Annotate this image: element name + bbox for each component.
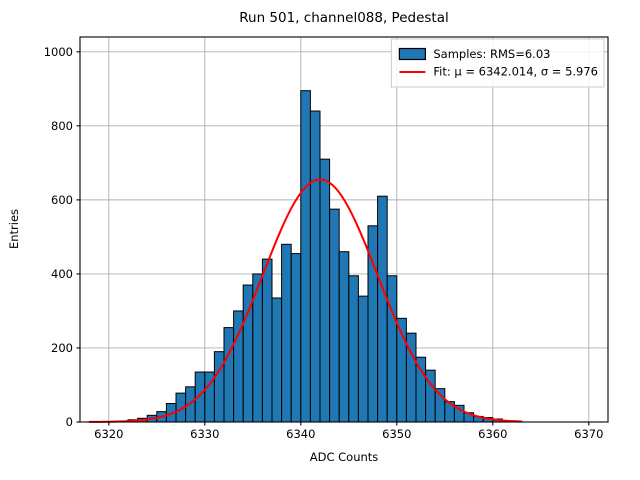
histogram-bar xyxy=(301,91,311,422)
y-tick-label: 0 xyxy=(66,415,73,429)
x-tick-label: 6360 xyxy=(478,427,507,441)
y-tick-label: 400 xyxy=(51,267,73,281)
legend[interactable]: Samples: RMS=6.03 Fit: μ = 6342.014, σ =… xyxy=(391,39,604,87)
y-tick-label: 200 xyxy=(51,341,73,355)
histogram-bar xyxy=(282,244,292,422)
x-tick-label: 6350 xyxy=(382,427,411,441)
y-tick-label: 1000 xyxy=(44,45,73,59)
x-axis-label: ADC Counts xyxy=(310,450,379,464)
x-tick-label: 6340 xyxy=(286,427,315,441)
y-tick-label: 800 xyxy=(51,119,73,133)
histogram-bar xyxy=(416,357,426,422)
histogram-bar xyxy=(339,252,349,422)
histogram-bar xyxy=(272,298,282,422)
legend-swatch-samples xyxy=(399,49,425,60)
histogram-bar xyxy=(320,159,330,422)
histogram-bar xyxy=(358,296,368,422)
histogram-bar xyxy=(262,259,272,422)
histogram-bar xyxy=(214,352,224,422)
legend-label-samples: Samples: RMS=6.03 xyxy=(433,47,550,61)
x-tick-label: 6320 xyxy=(94,427,123,441)
x-tick-label: 6330 xyxy=(190,427,219,441)
histogram-bar xyxy=(349,276,359,422)
y-axis-label: Entries xyxy=(7,209,21,249)
figure-canvas: Run 501, channel088, Pedestal 6320633063… xyxy=(0,0,640,480)
histogram-bar xyxy=(224,328,234,422)
y-tick-label: 600 xyxy=(51,193,73,207)
histogram-bar xyxy=(330,209,340,422)
histogram-bar xyxy=(378,196,388,422)
page-title: Run 501, channel088, Pedestal xyxy=(239,10,449,26)
legend-label-fit: Fit: μ = 6342.014, σ = 5.976 xyxy=(433,65,598,79)
histogram-bar xyxy=(310,111,320,422)
histogram-bar xyxy=(291,254,301,422)
histogram-bar xyxy=(387,276,397,422)
histogram-chart: Run 501, channel088, Pedestal 6320633063… xyxy=(0,0,640,480)
x-tick-label: 6370 xyxy=(574,427,603,441)
